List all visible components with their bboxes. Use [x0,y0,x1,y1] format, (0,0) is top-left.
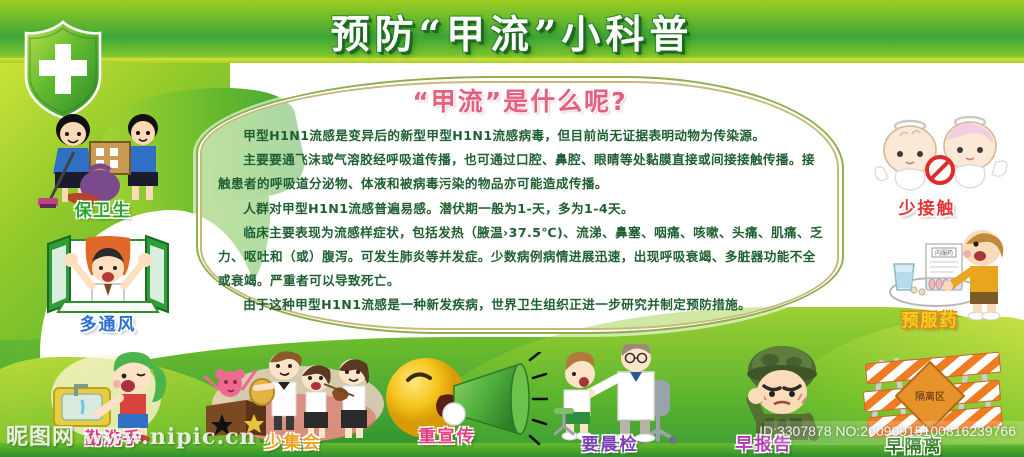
illustration-shao-jie-chu: 少接触 [866,112,1016,222]
article-paragraph: 由于这种甲型H1N1流感是一种新发疾病，世界卫生组织正进一步研究并制定预防措施。 [218,293,824,317]
illustration-yao-chen-jian: 要晨检 [552,344,712,457]
illustration-caption: 预服药 [860,306,1000,331]
article-paragraph: 主要要通飞沫或气溶胶经呼吸道传播，也可通过口腔、鼻腔、眼睛等处黏膜直接或间接接触… [218,148,824,196]
page-title-container: 预防“甲流”小科普 [0,4,1024,60]
illustration-caption: 保卫生 [28,196,178,221]
watermark-site-cn: 昵图网 [6,424,75,450]
poster-canvas: 预防“甲流”小科普 “甲流”是什么呢? 甲型H1N1流感是变异后的新型甲型H1N… [0,0,1024,457]
illustration-duo-tong-feng: 多通风 [38,232,178,340]
article-panel: “甲流”是什么呢? 甲型H1N1流感是变异后的新型甲型H1N1流感病毒，但目前尚… [196,76,844,334]
page-title: 预防“甲流”小科普 [331,4,694,60]
quarantine-sign-text: 隔离区 [915,390,945,403]
illustration-caption: 少接触 [852,194,1002,219]
shield-cross-icon [20,20,106,120]
watermark-id-text: ID:3307878 NO:20090915100816239766 [759,423,1016,439]
article-paragraph: 临床主要表现为流感样症状，包括发热（腋温›37.5℃)、流涕、鼻塞、咽痛、咳嗽、… [218,221,824,294]
illustration-caption: 重宣传 [362,422,532,447]
cleaning-children-icon [28,108,178,208]
article-paragraph: 甲型H1N1流感是变异后的新型甲型H1N1流感病毒，但目前尚无证据表明动物为传染… [218,124,824,148]
illustration-zhong-xuan-chuan: 重宣传 [378,352,548,457]
two-angels-no-contact-icon [866,112,1016,207]
illustration-caption: 要晨检 [530,430,690,455]
watermark-nipic: 昵图网 www.nipic.cn [6,419,257,451]
article-paragraph: 人群对甲型H1N1流感普遍易感。潜伏期一般为1-天，多为1-4天。 [218,197,824,221]
illustration-yu-fu-yao: 内服药 [884,228,1024,336]
watermark-site-url: www.nipic.cn [84,424,257,450]
article-body: 甲型H1N1流感是变异后的新型甲型H1N1流感病毒，但目前尚无证据表明动物为传染… [218,124,824,318]
illustration-bao-wei-sheng: 保卫生 [28,108,178,223]
article-subtitle: “甲流”是什么呢? [196,82,844,118]
illustration-caption: 多通风 [38,310,178,335]
doctor-checkup-icon [552,344,712,444]
medicine-label-text: 内服药 [935,249,953,257]
